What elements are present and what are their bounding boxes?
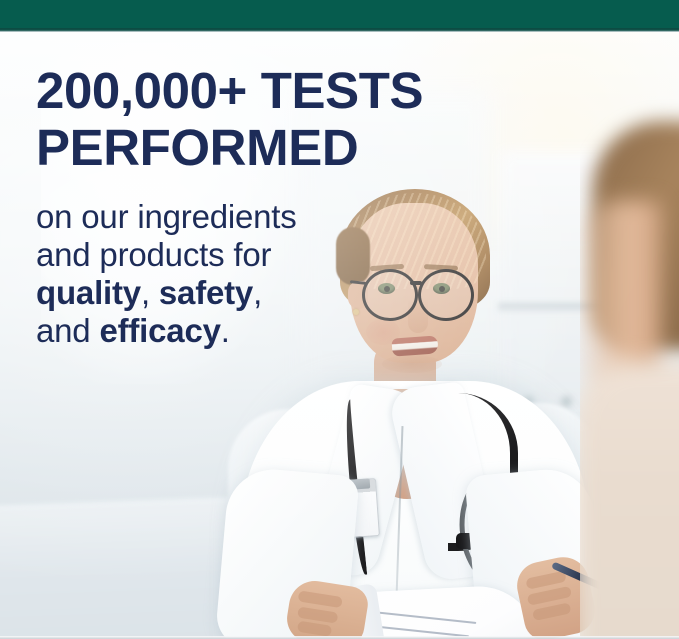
top-green-bar-shadow <box>0 28 679 32</box>
emphasis-efficacy: efficacy <box>99 312 220 349</box>
subcopy-line-3: quality, safety, <box>36 274 456 312</box>
emphasis-safety: safety <box>159 274 253 311</box>
tests-performed-banner: 200,000+ TESTS PERFORMED on our ingredie… <box>0 0 679 639</box>
subcopy: on our ingredients and products for qual… <box>36 198 456 350</box>
subcopy-line-1: on our ingredients <box>36 198 456 236</box>
subcopy-separator-b: , <box>253 274 262 311</box>
subcopy-line-2: and products for <box>36 236 456 274</box>
subcopy-and: and <box>36 312 99 349</box>
headline: 200,000+ TESTS PERFORMED <box>36 62 456 176</box>
subcopy-line-4: and efficacy. <box>36 312 456 350</box>
patient-body <box>580 361 679 639</box>
emphasis-quality: quality <box>36 274 141 311</box>
subcopy-separator-a: , <box>141 274 159 311</box>
subcopy-period: . <box>221 312 230 349</box>
chin-shadow <box>382 355 442 373</box>
text-overlay: 200,000+ TESTS PERFORMED on our ingredie… <box>36 62 456 350</box>
top-green-bar <box>0 0 679 31</box>
patient-figure <box>580 31 679 639</box>
